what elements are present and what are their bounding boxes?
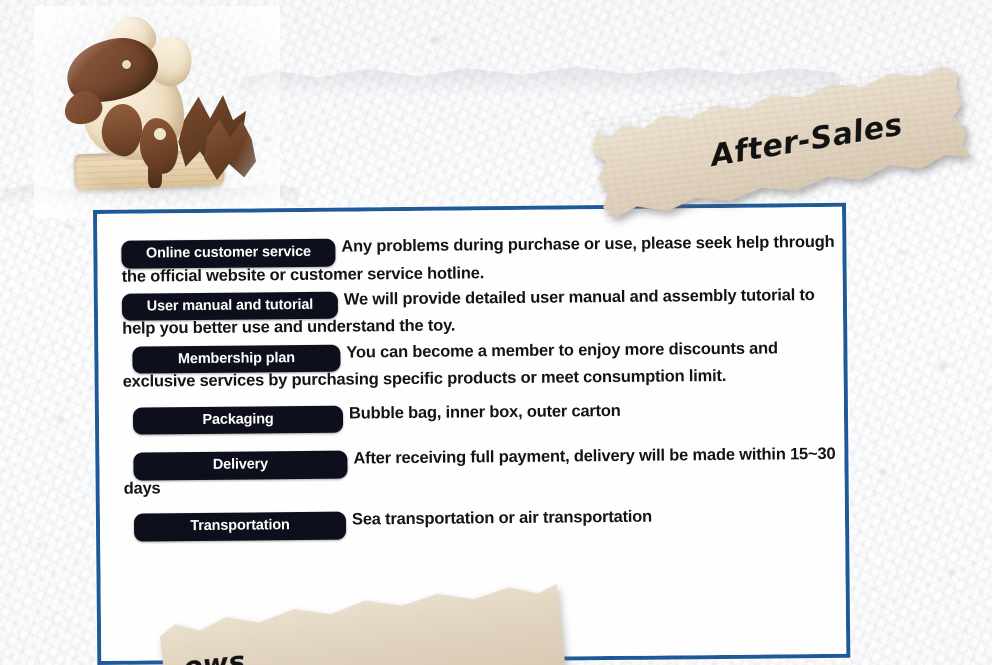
- after-sales-rows: Online customer serviceAny problems duri…: [97, 207, 846, 544]
- desc-membership-plan-head: You can become a member to enjoy more: [346, 340, 664, 361]
- badge-delivery: Delivery: [133, 451, 347, 481]
- row-delivery: DeliveryAfter receiving full payment, de…: [123, 445, 840, 499]
- row-user-manual-and-tutorial: User manual and tutorialWe will provide …: [122, 286, 839, 340]
- row-membership-plan: Membership planYou can become a member t…: [122, 339, 839, 393]
- wooden-toy-image: [44, 12, 264, 207]
- toy-joint-dot: [154, 128, 166, 140]
- desc-transportation-head: Sea transportation or air transportation: [352, 508, 652, 529]
- desc-online-customer-service-head: Any problems during purchase or use, ple…: [341, 234, 691, 255]
- desc-packaging-head: Bubble bag, inner box, outer carton: [349, 402, 621, 423]
- desc-delivery-head: After receiving full payment, delivery w…: [353, 447, 688, 468]
- row-packaging: PackagingBubble bag, inner box, outer ca…: [123, 400, 840, 434]
- row-online-customer-service: Online customer serviceAny problems duri…: [121, 233, 838, 287]
- badge-transportation: Transportation: [134, 512, 346, 542]
- badge-user-manual-and-tutorial: User manual and tutorial: [122, 292, 338, 322]
- badge-membership-plan: Membership plan: [132, 345, 340, 374]
- page-root: Online customer serviceAny problems duri…: [0, 0, 992, 665]
- toy-eye: [122, 60, 131, 69]
- row-transportation: TransportationSea transportation or air …: [124, 506, 841, 540]
- desc-user-manual-head: We will provide detailed user manual and: [344, 288, 659, 309]
- toy-hoof: [148, 162, 162, 188]
- badge-online-customer-service: Online customer service: [121, 239, 335, 269]
- badge-packaging: Packaging: [133, 406, 343, 436]
- after-sales-title: After-Sales: [708, 107, 905, 174]
